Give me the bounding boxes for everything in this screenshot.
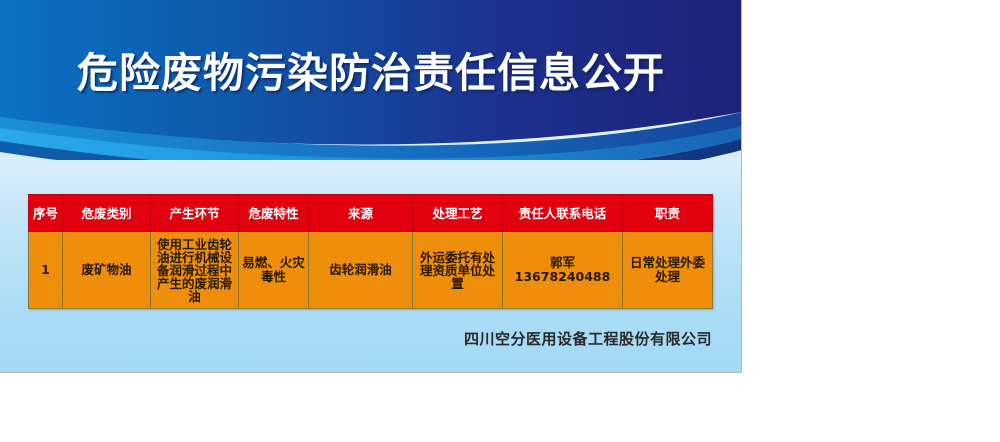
cell-duty: 日常处理外委处理 xyxy=(623,232,713,309)
table-row: 1 废矿物油 使用工业齿轮油进行机械设备润滑过程中产生的废润滑油 易燃、火灾毒性… xyxy=(29,232,713,309)
column-header-stage: 产生环节 xyxy=(151,195,239,232)
column-header-seq: 序号 xyxy=(29,195,63,232)
column-header-process: 处理工艺 xyxy=(413,195,503,232)
column-header-category: 危废类别 xyxy=(63,195,151,232)
cell-stage: 使用工业齿轮油进行机械设备润滑过程中产生的废润滑油 xyxy=(151,232,239,309)
company-name: 四川空分医用设备工程股份有限公司 xyxy=(0,328,712,349)
page-title: 危险废物污染防治责任信息公开 xyxy=(0,47,742,99)
cell-process: 外运委托有处理资质单位处置 xyxy=(413,232,503,309)
column-header-property: 危废特性 xyxy=(239,195,309,232)
cell-property: 易燃、火灾毒性 xyxy=(239,232,309,309)
hazardous-waste-table: 序号 危废类别 产生环节 危废特性 来源 处理工艺 责任人联系电话 职责 1 废… xyxy=(28,194,713,309)
responsible-person-phone: 13678240488 xyxy=(506,270,619,284)
column-header-phone: 责任人联系电话 xyxy=(503,195,623,232)
information-disclosure-poster: 危险废物污染防治责任信息公开 序号 危废类别 产生环节 危废特性 来源 处理工艺… xyxy=(0,0,742,373)
table-header-row: 序号 危废类别 产生环节 危废特性 来源 处理工艺 责任人联系电话 职责 xyxy=(29,195,713,232)
poster-banner: 危险废物污染防治责任信息公开 xyxy=(0,0,742,160)
column-header-duty: 职责 xyxy=(623,195,713,232)
cell-source: 齿轮润滑油 xyxy=(309,232,413,309)
column-header-source: 来源 xyxy=(309,195,413,232)
cell-category: 废矿物油 xyxy=(63,232,151,309)
responsible-person-name: 郭军 xyxy=(506,256,619,270)
cell-seq: 1 xyxy=(29,232,63,309)
cell-responsible-contact: 郭军 13678240488 xyxy=(503,232,623,309)
